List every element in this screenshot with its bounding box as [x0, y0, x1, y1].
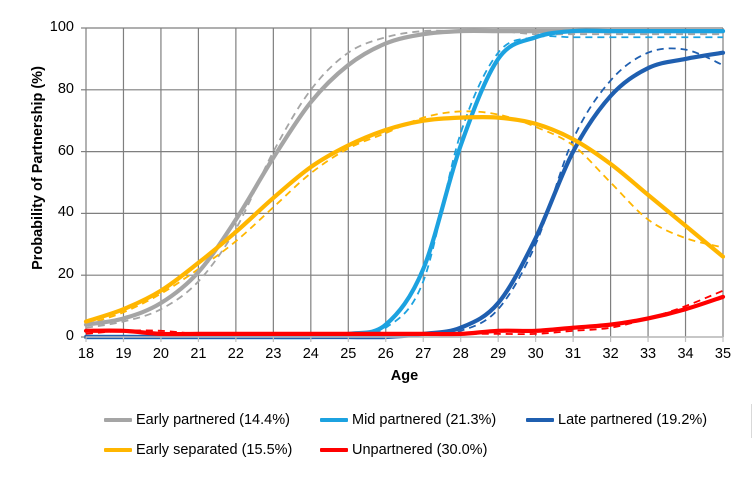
series-line-1	[86, 31, 723, 338]
x-tick-label: 21	[178, 346, 218, 362]
x-tick-label: 32	[591, 346, 631, 362]
legend-row: Early separated (15.5%)Unpartnered (30.0…	[104, 442, 744, 472]
x-tick-label: 23	[253, 346, 293, 362]
x-tick-label: 28	[441, 346, 481, 362]
axes	[81, 28, 723, 342]
legend-item[interactable]: Mid partnered (21.3%)	[320, 412, 496, 428]
legend-item[interactable]: Unpartnered (30.0%)	[320, 442, 487, 458]
x-tick-label: 25	[328, 346, 368, 362]
y-tick-label: 40	[34, 204, 74, 220]
legend-color-swatch	[320, 418, 348, 422]
partnership-probability-chart: Probability of Partnership (%) Age Early…	[0, 0, 754, 490]
legend-color-swatch	[526, 418, 554, 422]
chart-legend: Early partnered (14.4%)Mid partnered (21…	[104, 412, 744, 472]
x-tick-label: 26	[366, 346, 406, 362]
x-tick-label: 35	[703, 346, 743, 362]
x-tick-label: 18	[66, 346, 106, 362]
y-tick-label: 20	[34, 266, 74, 282]
legend-label: Late partnered (19.2%)	[558, 412, 707, 428]
series-observed-3	[86, 111, 723, 324]
y-tick-label: 100	[34, 19, 74, 35]
x-tick-label: 31	[553, 346, 593, 362]
legend-label: Early partnered (14.4%)	[136, 412, 290, 428]
legend-item[interactable]: Early partnered (14.4%)	[104, 412, 290, 428]
series-observed-2	[86, 48, 723, 337]
legend-label: Unpartnered (30.0%)	[352, 442, 487, 458]
x-tick-label: 20	[141, 346, 181, 362]
y-tick-label: 80	[34, 81, 74, 97]
legend-label: Early separated (15.5%)	[136, 442, 292, 458]
series-group	[86, 31, 723, 338]
legend-item[interactable]: Late partnered (19.2%)	[526, 412, 707, 428]
y-tick-label: 0	[34, 328, 74, 344]
x-tick-label: 22	[216, 346, 256, 362]
legend-color-swatch	[104, 418, 132, 422]
legend-color-swatch	[320, 448, 348, 452]
x-tick-label: 27	[403, 346, 443, 362]
series-line-2	[86, 53, 723, 338]
x-tick-label: 19	[103, 346, 143, 362]
y-tick-label: 60	[34, 143, 74, 159]
x-tick-label: 24	[291, 346, 331, 362]
legend-color-swatch	[104, 448, 132, 452]
x-tick-label: 34	[666, 346, 706, 362]
x-tick-label: 29	[478, 346, 518, 362]
legend-label: Mid partnered (21.3%)	[352, 412, 496, 428]
x-tick-label: 30	[516, 346, 556, 362]
x-axis-title: Age	[86, 368, 723, 384]
legend-item[interactable]: Early separated (15.5%)	[104, 442, 292, 458]
x-tick-label: 33	[628, 346, 668, 362]
legend-row: Early partnered (14.4%)Mid partnered (21…	[104, 412, 744, 442]
legend-divider	[751, 404, 752, 438]
